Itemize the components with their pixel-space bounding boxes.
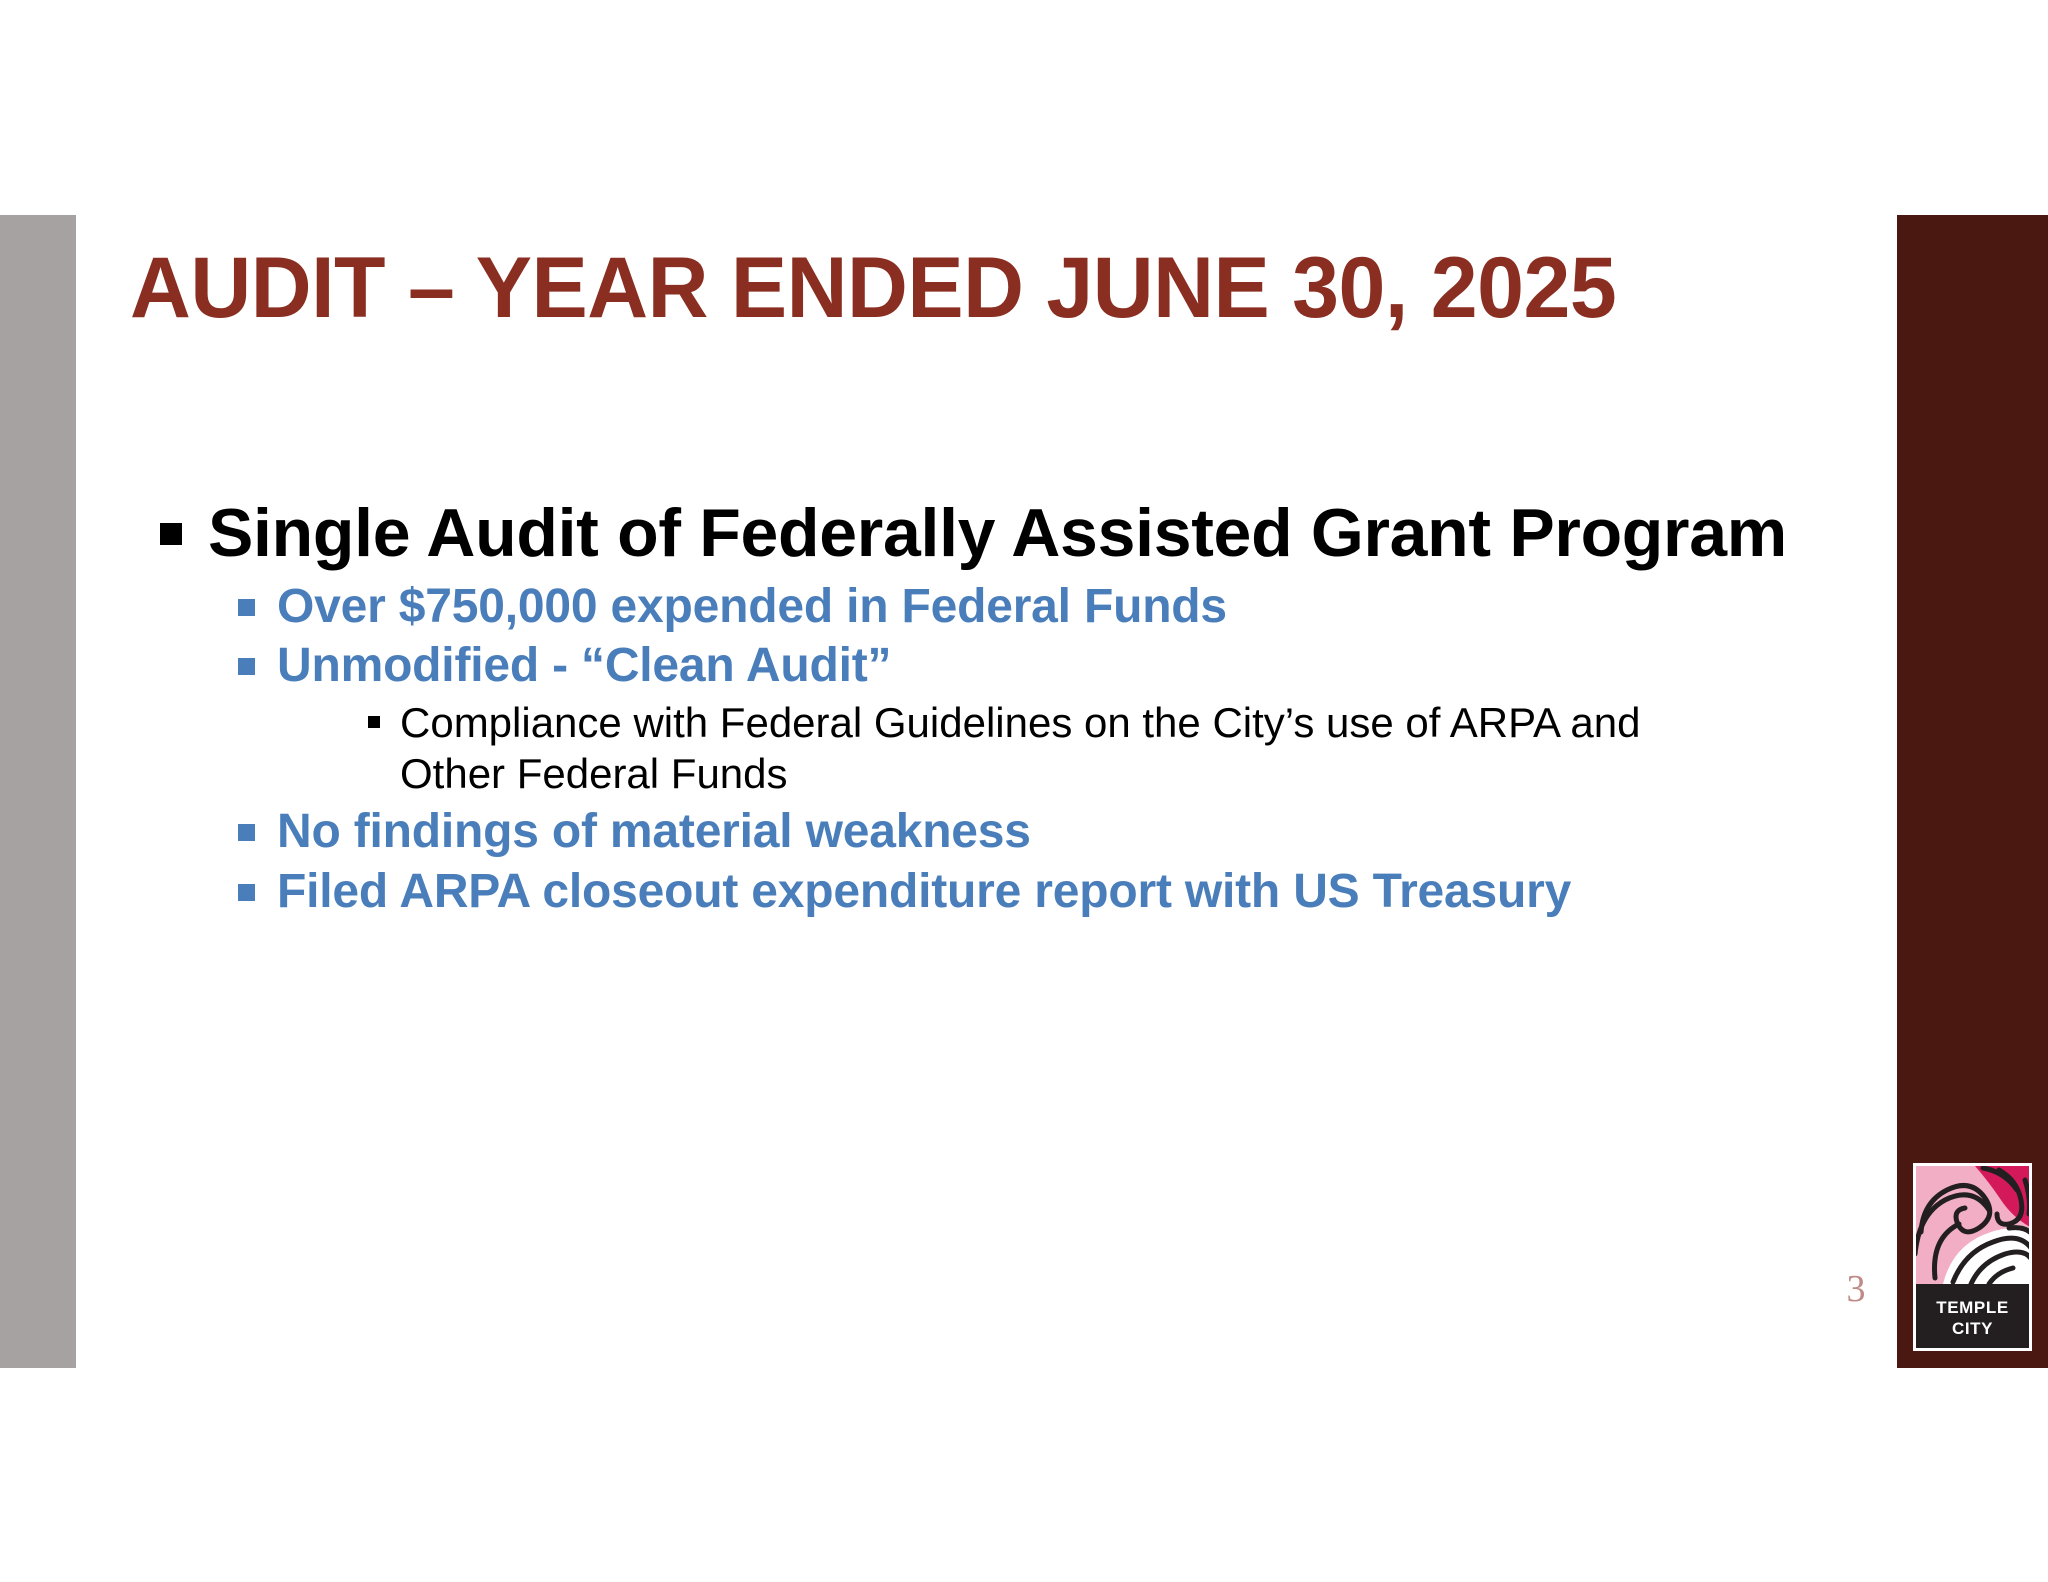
square-bullet-icon bbox=[238, 884, 255, 901]
logo-label-line1: TEMPLE bbox=[1936, 1298, 2009, 1319]
page-number: 3 bbox=[1826, 1270, 1886, 1308]
bullet-text: Compliance with Federal Guidelines on th… bbox=[400, 697, 1700, 799]
bullet-text: Over $750,000 expended in Federal Funds bbox=[277, 578, 1860, 636]
bullet-text: No findings of material weakness bbox=[277, 803, 1860, 861]
bullet-level2: Filed ARPA closeout expenditure report w… bbox=[238, 863, 1860, 921]
bullet-text: Filed ARPA closeout expenditure report w… bbox=[277, 863, 1860, 921]
bullet-text: Unmodified - “Clean Audit” bbox=[277, 637, 1860, 695]
bullet-level2: No findings of material weakness bbox=[238, 803, 1860, 861]
slide-canvas: AUDIT – YEAR ENDED JUNE 30, 2025 Single … bbox=[0, 0, 2048, 1582]
square-bullet-icon bbox=[160, 523, 182, 545]
left-accent-bar bbox=[0, 215, 76, 1368]
square-bullet-icon bbox=[368, 716, 380, 728]
body-content: Single Audit of Federally Assisted Grant… bbox=[160, 495, 1860, 923]
temple-city-logo: TEMPLE CITY bbox=[1913, 1163, 2032, 1351]
bullet-text: Single Audit of Federally Assisted Grant… bbox=[208, 495, 1860, 572]
square-bullet-icon bbox=[238, 658, 255, 675]
logo-label-line2: CITY bbox=[1952, 1319, 1993, 1340]
square-bullet-icon bbox=[238, 599, 255, 616]
bullet-level1: Single Audit of Federally Assisted Grant… bbox=[160, 495, 1860, 572]
square-bullet-icon bbox=[238, 824, 255, 841]
bullet-level2: Unmodified - “Clean Audit” bbox=[238, 637, 1860, 695]
page-title: AUDIT – YEAR ENDED JUNE 30, 2025 bbox=[130, 243, 1816, 333]
bullet-level2: Over $750,000 expended in Federal Funds bbox=[238, 578, 1860, 636]
rose-emblem-icon bbox=[1916, 1166, 2029, 1284]
logo-label: TEMPLE CITY bbox=[1916, 1284, 2029, 1351]
bullet-level3: Compliance with Federal Guidelines on th… bbox=[368, 697, 1860, 799]
